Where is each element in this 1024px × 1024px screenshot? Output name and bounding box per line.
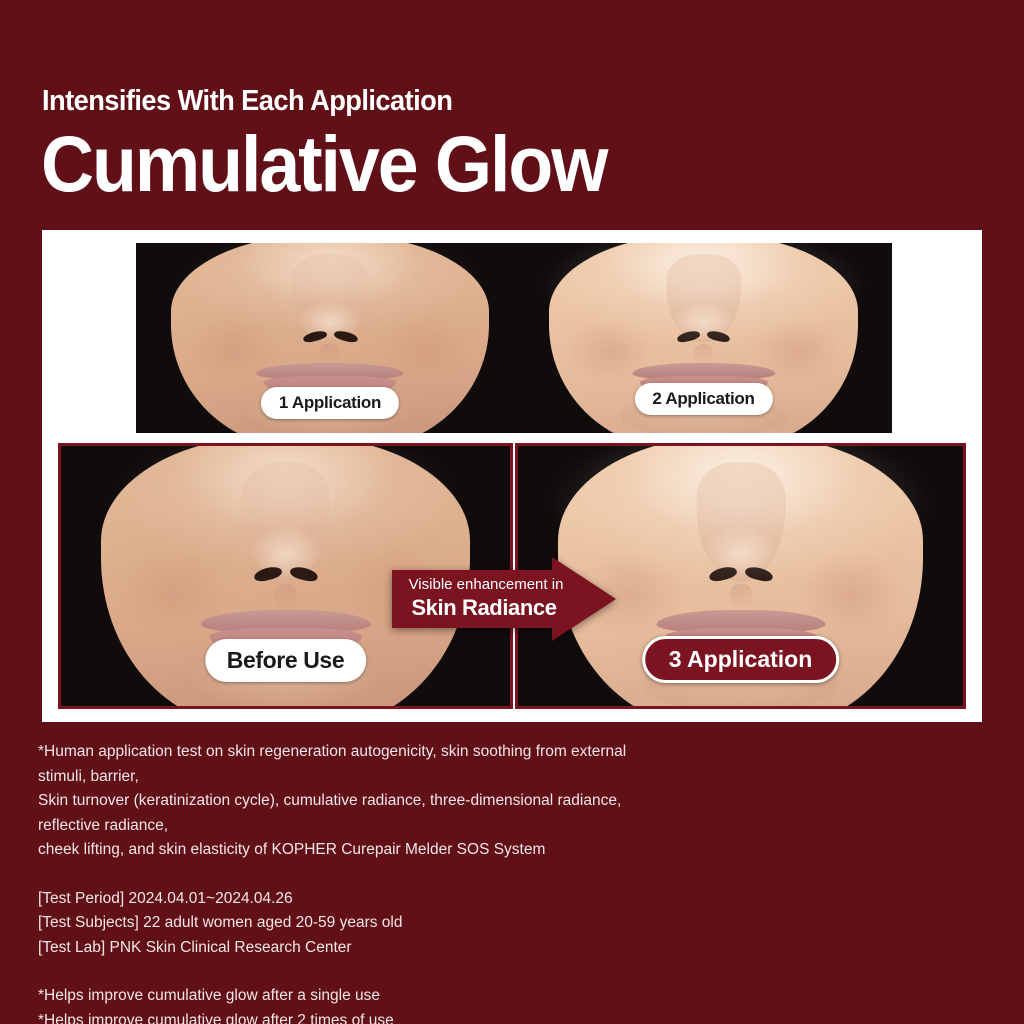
label-1-application: 1 Application [261,387,399,419]
footnote-line: cheek lifting, and skin elasticity of KO… [38,838,868,863]
footnote-line: *Human application test on skin regenera… [38,740,868,765]
page-title: Cumulative Glow [41,124,606,203]
footnote-line: stimuli, barrier, [38,765,868,790]
label-before-use: Before Use [205,639,366,682]
arrow-caption-main: Skin Radiance [398,595,570,621]
test-subjects-line: [Test Subjects] 22 adult women aged 20-5… [38,911,868,936]
page-eyebrow: Intensifies With Each Application [42,85,452,118]
footnotes: *Human application test on skin regenera… [38,740,868,1024]
arrow-caption-top: Visible enhancement in [402,576,570,593]
skin-radiance-arrow: Visible enhancement in Skin Radiance [392,557,616,641]
tile-2-application: 2 Application [515,243,892,433]
label-3-application: 3 Application [642,636,840,683]
test-period-line: [Test Period] 2024.04.01~2024.04.26 [38,887,868,912]
footnote-spacer [38,960,868,984]
promo-page: Intensifies With Each Application Cumula… [0,0,1024,1024]
before-after-gallery: 1 Application 2 Application Before Use [42,230,982,722]
claim-line: *Helps improve cumulative glow after 2 t… [38,1009,868,1024]
claim-line: *Helps improve cumulative glow after a s… [38,984,868,1009]
tile-1-application: 1 Application [136,243,524,433]
footnote-line: Skin turnover (keratinization cycle), cu… [38,789,868,814]
footnote-spacer [38,863,868,887]
test-lab-line: [Test Lab] PNK Skin Clinical Research Ce… [38,936,868,961]
label-2-application: 2 Application [634,383,772,415]
footnote-line: reflective radiance, [38,814,868,839]
